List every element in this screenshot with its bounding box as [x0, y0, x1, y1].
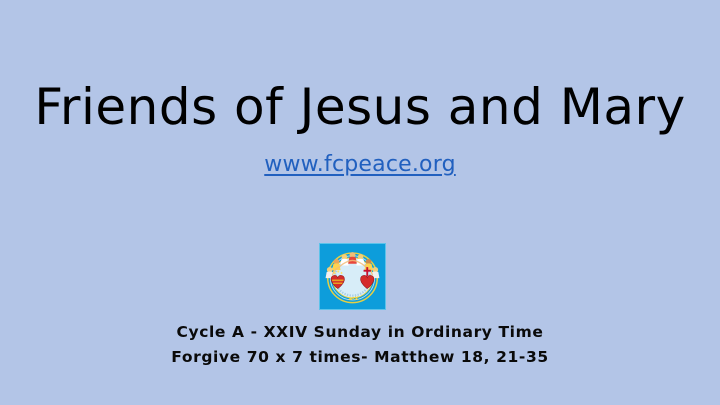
logo-container	[319, 243, 386, 310]
caption-line-cycle: Cycle A - XXIV Sunday in Ordinary Time	[0, 320, 720, 345]
friends-of-jesus-and-mary-emblem-icon	[319, 243, 386, 310]
website-link-row: www.fcpeace.org	[0, 152, 720, 177]
caption-line-reading: Forgive 70 x 7 times- Matthew 18, 21-35	[0, 345, 720, 370]
page-title: Friends of Jesus and Mary	[0, 78, 720, 136]
presentation-slide: Friends of Jesus and Mary www.fcpeace.or…	[0, 0, 720, 405]
caption-block: Cycle A - XXIV Sunday in Ordinary Time F…	[0, 320, 720, 370]
website-link[interactable]: www.fcpeace.org	[264, 152, 455, 177]
